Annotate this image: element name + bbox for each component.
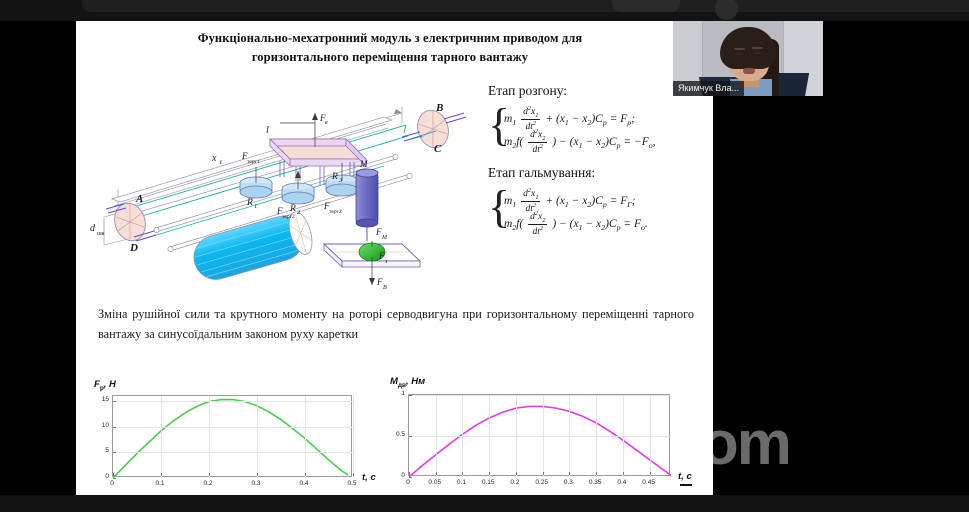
eq-term: d2x1: [521, 105, 540, 120]
tick-mark-x: [650, 472, 651, 475]
x-tick-label: 0.15: [480, 479, 496, 486]
tick-mark-x: [353, 473, 354, 476]
series-line: [113, 400, 348, 478]
eq-term: − x: [569, 113, 588, 125]
tick-mark-x: [113, 473, 114, 476]
x-tick-label: 0.35: [587, 479, 603, 486]
tick-mark-y: [113, 452, 116, 453]
page-title: Функціонально-мехатронний модуль з елект…: [90, 29, 690, 68]
svg-text:d: d: [90, 223, 96, 234]
eq-term: )C: [605, 136, 617, 148]
presenter-hair: [720, 27, 776, 69]
x-tick-label: 0.25: [534, 479, 550, 486]
eq-term: = F: [620, 218, 641, 230]
mechatronic-module-diagram: A D B C l x 1 d шк F в R 1 R 2 R 3: [84, 89, 476, 289]
tick-mark-x: [462, 472, 463, 475]
svg-text:R: R: [246, 198, 253, 208]
svg-text:B: B: [383, 285, 387, 289]
torque-chart-y-axis-label: Mдв, Нм: [390, 376, 425, 389]
eq-term: ) − (x: [552, 136, 578, 148]
eq-term: + (x: [545, 113, 565, 125]
tick-mark-x: [209, 473, 210, 476]
eq-term: dt2: [528, 143, 547, 156]
eq-term: = F: [607, 195, 628, 207]
svg-text:C: C: [434, 143, 442, 155]
equation-row: m2f( d2x2 dt2 ) − (x1 − x2)Cp = −Fo,: [504, 128, 710, 151]
zoom-bottom-bar[interactable]: [0, 495, 969, 512]
gridline-horizontal: [113, 401, 353, 402]
x-tick-label: 0.1: [453, 479, 469, 486]
tick-mark-x: [543, 472, 544, 475]
series-line: [409, 406, 671, 477]
left-brace-icon: {: [488, 103, 510, 147]
eq-term: ,: [653, 136, 656, 148]
slide-title-line-1: Функціонально-мехатронний модуль з елект…: [90, 29, 690, 48]
stage-acceleration-equations: { m1 d2x1 dt2 + (x1 − x2)Cp = Fp; m2f( d…: [488, 105, 710, 151]
participant-name-badge: Якимчук Вла...: [673, 81, 744, 96]
svg-text:M: M: [359, 159, 368, 169]
stage-braking-heading: Етап гальмування:: [488, 165, 710, 181]
gridline-horizontal: [113, 427, 353, 428]
eq-term: ;: [631, 113, 635, 125]
equations-column: Етап розгону: { m1 d2x1 dt2 + (x1 − x2)C…: [488, 83, 710, 241]
derivative-fraction: d2x2 dt2: [528, 128, 547, 157]
participant-video-tile[interactable]: Якимчук Вла...: [673, 21, 823, 96]
eq-term: dt: [533, 228, 540, 238]
eq-term: 1: [512, 200, 516, 209]
tick-mark-x: [409, 472, 410, 475]
svg-text:F: F: [376, 277, 383, 287]
svg-text:терт1: терт1: [247, 159, 260, 165]
svg-text:F: F: [375, 227, 382, 237]
eq-term: d2x2: [528, 210, 547, 225]
derivative-fraction: d2x2 dt2: [528, 210, 547, 239]
tick-mark-x: [305, 473, 306, 476]
eq-term: 2: [533, 120, 536, 127]
gridline-vertical: [353, 396, 354, 478]
gridline-vertical: [209, 396, 210, 478]
tick-mark-y: [409, 395, 412, 396]
tick-mark-x: [489, 472, 490, 475]
zoom-watermark-text: zoom: [712, 430, 713, 495]
eq-term: )C: [591, 195, 603, 207]
x-tick-label: 0.5: [344, 480, 360, 487]
svg-text:R: R: [289, 204, 296, 214]
y-tick-label: 0: [386, 472, 405, 479]
eq-term: = F: [607, 113, 628, 125]
tick-mark-x: [569, 472, 570, 475]
torque-chart: Mдв, Нм t, с 00.050.10.150.20.250.30.350…: [386, 376, 696, 491]
eq-term: )C: [591, 113, 603, 125]
force-chart-curve: [113, 396, 353, 478]
eq-term: 2: [542, 135, 545, 142]
svg-text:M: M: [381, 235, 388, 241]
svg-text:D: D: [129, 242, 138, 254]
zoom-watermark: zoom: [712, 429, 713, 495]
eq-term: d2x2: [528, 128, 547, 143]
gridline-horizontal: [409, 436, 671, 437]
gridline-vertical: [257, 396, 258, 478]
equation-row: m1 d2x1 dt2 + (x1 − x2)Cp = Fp;: [504, 105, 710, 128]
eq-term: − x: [569, 195, 588, 207]
eq-term: .: [645, 218, 648, 230]
eq-term: 2: [533, 202, 536, 209]
y-tick-label: 5: [90, 447, 109, 454]
presenter-mouth: [743, 68, 755, 74]
slide-paragraph: Зміна рушійної сили та крутного моменту …: [98, 305, 694, 345]
x-tick-label: 0: [104, 480, 120, 487]
eq-term: f(: [516, 218, 523, 230]
eq-term: )C: [605, 218, 617, 230]
eq-term: 1: [535, 194, 538, 201]
x-tick-label: 0: [400, 479, 416, 486]
y-tick-label: 0.5: [386, 431, 405, 438]
svg-text:в: в: [325, 120, 328, 126]
x-tick-label: 0.2: [200, 480, 216, 487]
tick-mark-y: [113, 478, 116, 479]
x-tick-label: 0.4: [296, 480, 312, 487]
tick-mark-y: [113, 401, 116, 402]
svg-text:x: x: [211, 153, 217, 164]
zoom-toolbar-pill[interactable]: [82, 0, 969, 12]
eq-term: + (x: [545, 195, 565, 207]
y-tick-label: 15: [90, 396, 109, 403]
eq-term: = −F: [620, 136, 648, 148]
svg-text:1: 1: [219, 159, 222, 166]
y-tick-label: 1: [386, 390, 405, 397]
tick-mark-x: [161, 473, 162, 476]
eq-term: 2: [540, 225, 543, 232]
eq-term: ;: [632, 195, 636, 207]
equation-row: m1 d2x1 dt2 + (x1 − x2)Cp = FГ;: [504, 187, 710, 210]
eq-term: dt2: [528, 225, 547, 238]
force-chart-plot-area: [112, 395, 352, 477]
zoom-top-toolbar[interactable]: [0, 0, 969, 21]
eq-term: 1: [535, 112, 538, 119]
force-chart-x-axis-label: t, с: [362, 472, 376, 483]
force-chart-y-axis-label: Fр, Н: [94, 379, 116, 392]
eq-term: 2: [540, 143, 543, 150]
tick-mark-x: [623, 472, 624, 475]
tick-mark-y: [409, 436, 412, 437]
tick-mark-y: [409, 477, 412, 478]
svg-text:B: B: [435, 102, 443, 114]
svg-text:терт2: терт2: [329, 209, 342, 215]
torque-chart-x-axis-label: t, с: [678, 471, 692, 482]
equation-row: m2f( d2x2 dt2 ) − (x1 − x2)Cp = Fo.: [504, 210, 710, 233]
zoom-toolbar-pill-secondary[interactable]: [612, 0, 680, 12]
force-chart: Fр, Н t, с 00.10.20.30.40.5051015: [90, 379, 380, 491]
svg-text:терт2: терт2: [282, 214, 295, 220]
zoom-screenshare-window: zoom Функціонально-мехатронний модуль з …: [0, 0, 969, 512]
zoom-toolbar-round-button[interactable]: [715, 0, 738, 20]
presenter-eyebrow-right: [752, 47, 763, 49]
y-tick-label: 0: [90, 473, 109, 480]
svg-text:l: l: [266, 125, 269, 136]
slide-end-marker: [680, 484, 692, 486]
gridline-horizontal: [113, 452, 353, 453]
presenter-eye-right: [754, 51, 761, 54]
presenter-eyebrow-left: [734, 48, 745, 50]
gridline-horizontal: [409, 395, 671, 396]
eq-term: dt: [533, 146, 540, 156]
svg-text:R: R: [331, 172, 338, 182]
tick-mark-x: [257, 473, 258, 476]
x-tick-label: 0.05: [427, 479, 443, 486]
left-brace-icon: {: [488, 185, 510, 229]
slide-title-line-2: горизонтального переміщення тарного вант…: [90, 48, 690, 67]
torque-chart-plot-area: [408, 394, 670, 476]
eq-term: 2: [542, 217, 545, 224]
eq-term: d2x1: [521, 187, 540, 202]
eq-term: f(: [516, 136, 523, 148]
stage-braking-equations: { m1 d2x1 dt2 + (x1 − x2)Cp = FГ; m2f( d…: [488, 187, 710, 233]
presentation-slide: Функціонально-мехатронний модуль з елект…: [76, 21, 713, 495]
gridline-vertical: [161, 396, 162, 478]
eq-term: − x: [583, 136, 602, 148]
svg-text:A: A: [135, 193, 143, 205]
eq-term: 1: [512, 118, 516, 127]
y-tick-label: 10: [90, 422, 109, 429]
eq-term: − x: [583, 218, 602, 230]
presenter-eye-left: [736, 52, 743, 55]
svg-text:F: F: [378, 251, 385, 261]
tick-mark-x: [596, 472, 597, 475]
gridline-vertical: [305, 396, 306, 478]
svg-text:1: 1: [254, 203, 257, 210]
eq-term: ) − (x: [552, 218, 578, 230]
x-tick-label: 0.45: [641, 479, 657, 486]
x-tick-label: 0.2: [507, 479, 523, 486]
x-tick-label: 0.4: [614, 479, 630, 486]
x-tick-label: 0.3: [248, 480, 264, 487]
x-tick-label: 0.1: [152, 480, 168, 487]
tick-mark-x: [516, 472, 517, 475]
svg-text:шк: шк: [97, 231, 105, 237]
x-tick-label: 0.3: [560, 479, 576, 486]
tick-mark-x: [436, 472, 437, 475]
tick-mark-y: [113, 427, 116, 428]
